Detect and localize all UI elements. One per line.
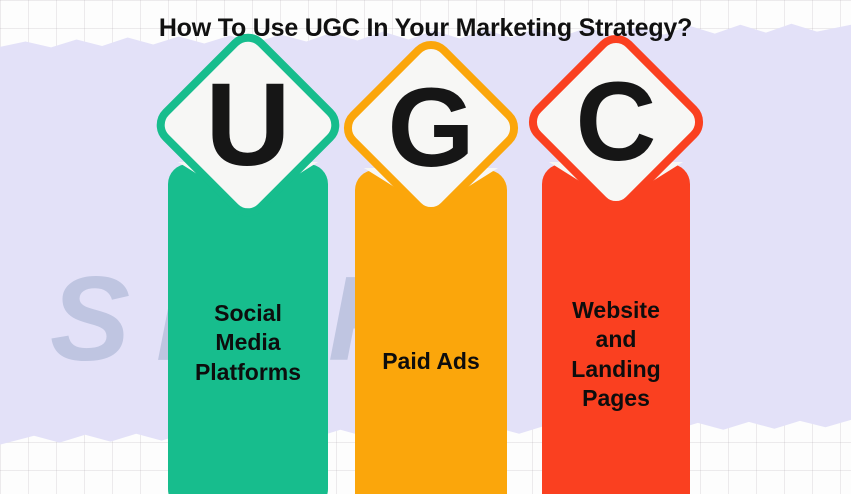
pillar-social-media-platforms[interactable]: U Social Media Platforms	[160, 44, 336, 474]
pillar-label-u-line3: Platforms	[160, 358, 336, 387]
pillar-website-and-landing-pages[interactable]: C Website and Landing Pages	[534, 44, 698, 476]
pillar-label-g-line1: Paid Ads	[348, 347, 514, 376]
pillar-label-c-line1: Website	[534, 296, 698, 325]
pillar-body-orange	[355, 170, 507, 494]
pillar-label-c-line3: Landing	[534, 355, 698, 384]
pillar-label-u-line1: Social	[160, 299, 336, 328]
pillar-label-c-line4: Pages	[534, 384, 698, 413]
pillar-label-u-line2: Media	[160, 328, 336, 357]
pillar-label-c-line2: and	[534, 325, 698, 354]
pillar-label-u: Social Media Platforms	[160, 299, 336, 387]
page-title: How To Use UGC In Your Marketing Strateg…	[0, 14, 851, 43]
pillar-label-g: Paid Ads	[348, 347, 514, 376]
diamond-letter-c: C	[556, 62, 676, 182]
diamond-letter-g: G	[371, 68, 491, 188]
pillar-paid-ads[interactable]: G Paid Ads	[348, 52, 514, 472]
infographic-canvas: SiNR How To Use UGC In Your Marketing St…	[0, 0, 851, 494]
pillar-label-c: Website and Landing Pages	[534, 296, 698, 414]
diamond-letter-u: U	[185, 62, 311, 188]
